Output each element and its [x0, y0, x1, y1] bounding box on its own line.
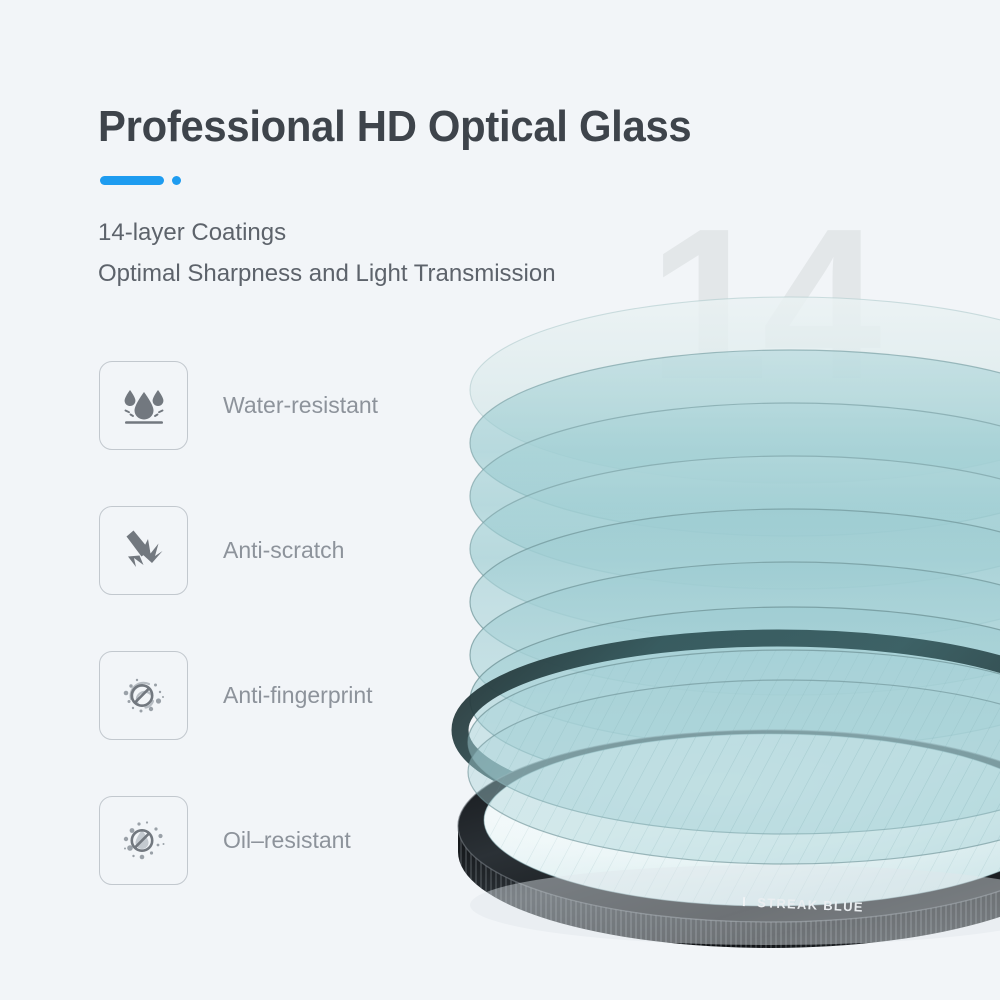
blade-impact-icon — [117, 523, 171, 577]
feature-item-oil-resistant: Oil–resistant — [99, 795, 378, 885]
feature-label-anti-fingerprint: Anti-fingerprint — [223, 682, 373, 709]
ring-label-group: I STREAK BLUE — [742, 894, 864, 915]
feature-list: Water-resistant Anti-scratch — [99, 360, 378, 885]
coating-disc-2 — [470, 350, 1000, 536]
feature-label-oil-resistant: Oil–resistant — [223, 827, 351, 854]
feature-item-anti-scratch: Anti-scratch — [99, 505, 378, 595]
feature-label-anti-scratch: Anti-scratch — [223, 537, 344, 564]
icon-box-oil-resistant — [99, 796, 188, 885]
coating-disc-7 — [470, 607, 1000, 793]
subtitle-line-1: 14-layer Coatings — [98, 212, 758, 253]
coating-disc-4 — [470, 456, 1000, 642]
oil-droplet-blocked-icon — [117, 813, 171, 867]
ring-brand-text: STREAK BLUE — [757, 895, 864, 915]
ring-mark-glyph: I — [742, 894, 746, 909]
header-block: Professional HD Optical Glass 14-layer C… — [98, 104, 758, 295]
coating-disc-5 — [470, 509, 1000, 695]
accent-bar — [100, 176, 164, 185]
filter-ring — [458, 730, 1000, 948]
subtitle-block: 14-layer Coatings Optimal Sharpness and … — [98, 212, 758, 295]
fingerprint-blocked-icon — [117, 668, 171, 722]
water-drops-icon — [117, 378, 171, 432]
page-title: Professional HD Optical Glass — [98, 104, 725, 150]
icon-box-water-resistant — [99, 361, 188, 450]
feature-item-water-resistant: Water-resistant — [99, 360, 378, 450]
accent-dot — [172, 176, 181, 185]
subtitle-line-2: Optimal Sharpness and Light Transmission — [98, 253, 758, 294]
coating-disc-6 — [470, 562, 1000, 748]
coating-disc-3 — [470, 403, 1000, 589]
icon-box-anti-scratch — [99, 506, 188, 595]
coating-disc-1 — [470, 297, 1000, 483]
lower-coating-discs — [468, 650, 1000, 864]
dark-coating-band — [460, 638, 1000, 822]
glass-discs-group: I STREAK BLUE — [458, 297, 1000, 948]
infographic-canvas: 14 — [0, 0, 1000, 1000]
feature-label-water-resistant: Water-resistant — [223, 392, 378, 419]
accent-divider — [100, 176, 758, 185]
filter-glass-face — [484, 734, 1000, 906]
feature-item-anti-fingerprint: Anti-fingerprint — [99, 650, 378, 740]
icon-box-anti-fingerprint — [99, 651, 188, 740]
